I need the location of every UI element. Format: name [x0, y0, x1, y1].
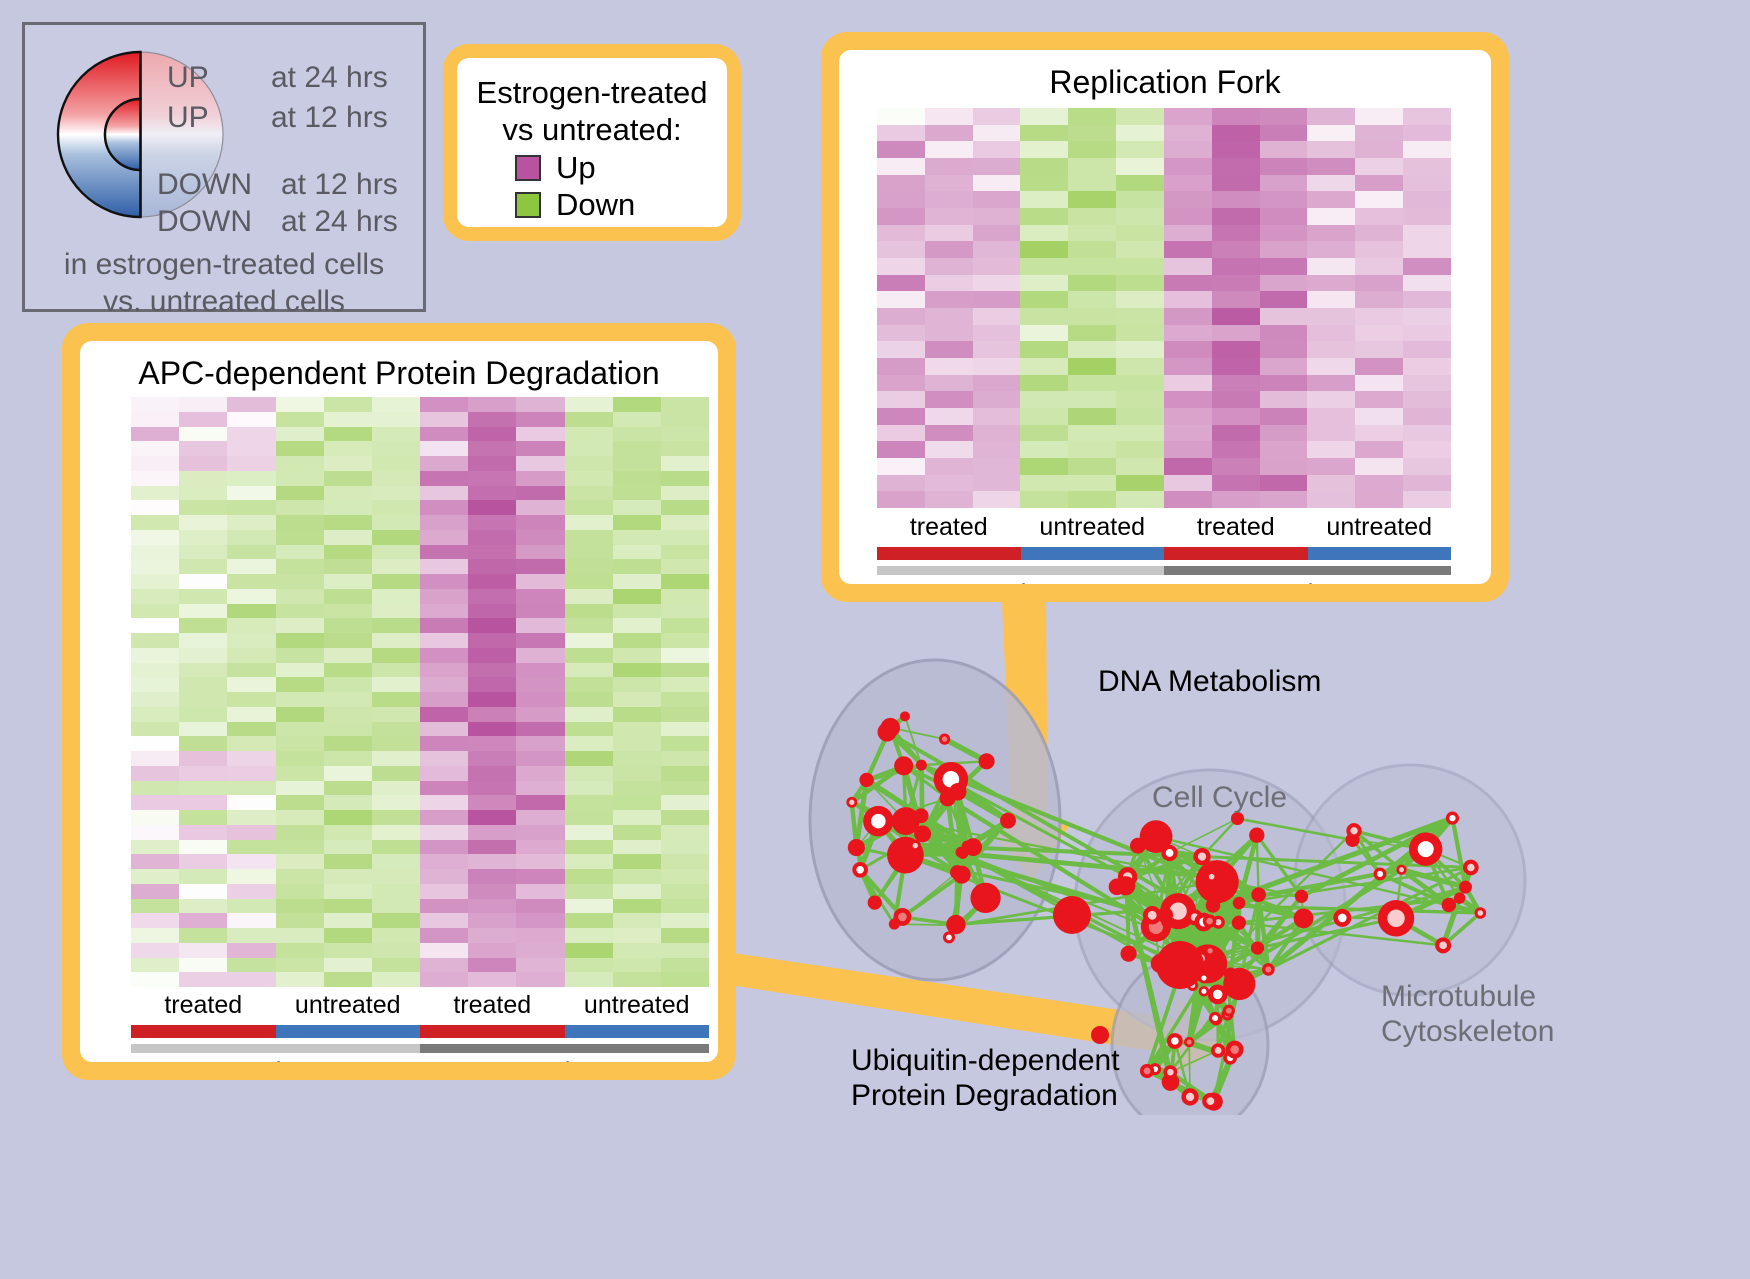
heatmap-cell [661, 456, 709, 471]
heatmap-cell [131, 515, 179, 530]
network-node[interactable] [1223, 1005, 1235, 1017]
network-node[interactable] [1163, 1065, 1177, 1079]
heatmap-cell [613, 884, 661, 899]
node-inner-circle [1201, 989, 1206, 994]
heatmap-cell [1355, 208, 1403, 225]
replication-fork-title: Replication Fork [839, 64, 1491, 101]
heatmap-cell [131, 663, 179, 678]
heatmap-cell [179, 589, 227, 604]
network-node[interactable] [846, 797, 857, 808]
heatmap-cell [1260, 441, 1308, 458]
heatmap-cell [1260, 341, 1308, 358]
network-node[interactable] [1209, 1012, 1221, 1024]
network-node[interactable] [859, 773, 873, 787]
heatmap-cell [565, 471, 613, 486]
heatmap-cell [925, 141, 973, 158]
network-node[interactable] [1196, 860, 1239, 903]
heatmap-cell [1355, 425, 1403, 442]
heatmap-cell [877, 108, 925, 125]
heatmap-cell [973, 225, 1021, 242]
heatmap-cell [1164, 441, 1212, 458]
heatmap-cell [925, 375, 973, 392]
network-node[interactable] [910, 840, 921, 851]
heatmap-cell [1164, 275, 1212, 292]
network-node[interactable] [1202, 1093, 1218, 1109]
network-node[interactable] [970, 883, 1000, 913]
heatmap-cell [516, 471, 564, 486]
heatmap-cell [1307, 358, 1355, 375]
heatmap-cell [372, 589, 420, 604]
heatmap-cell [877, 158, 925, 175]
heatmap-cell [613, 545, 661, 560]
heatmap-cell [1403, 358, 1451, 375]
network-node[interactable] [1193, 848, 1210, 865]
network-node[interactable] [1262, 963, 1275, 976]
heatmap-cell [1260, 275, 1308, 292]
heatmap-cell [420, 751, 468, 766]
node-outer-circle [946, 915, 965, 934]
heatmap-cell [516, 781, 564, 796]
heatmap-cell [179, 869, 227, 884]
network-node[interactable] [1346, 823, 1361, 838]
heatmap-cell [1212, 275, 1260, 292]
network-node[interactable] [914, 808, 929, 823]
network-node[interactable] [946, 915, 965, 934]
heatmap-cell [1260, 408, 1308, 425]
heatmap-cell [324, 574, 372, 589]
heatmap-cell [1403, 458, 1451, 475]
heatmap-cell [227, 722, 275, 737]
network-node[interactable] [1294, 908, 1314, 928]
heatmap-cell [179, 928, 227, 943]
network-node[interactable] [1120, 946, 1136, 962]
network-node[interactable] [955, 847, 966, 858]
heatmap-cell [420, 574, 468, 589]
color-key-panel: UP at 24 hrs UP at 12 hrs DOWN at 12 hrs… [22, 22, 426, 312]
heatmap-cell [420, 559, 468, 574]
network-node[interactable] [852, 862, 868, 878]
network-node[interactable] [1396, 865, 1406, 875]
condition-label: treated [1164, 513, 1308, 542]
heatmap-cell [1212, 191, 1260, 208]
heatmap-cell [131, 810, 179, 825]
heatmap-cell [613, 840, 661, 855]
apc-panel: APC-dependent Protein Degradation treate… [62, 323, 736, 1080]
heatmap-cell [565, 869, 613, 884]
key-label-up-24: UP [167, 61, 209, 95]
heatmap-cell [372, 854, 420, 869]
heatmap-cell [420, 795, 468, 810]
network-node[interactable] [1463, 860, 1479, 876]
heatmap-cell [1355, 241, 1403, 258]
heatmap-cell [516, 943, 564, 958]
network-node[interactable] [1208, 984, 1228, 1004]
heatmap-cell [1020, 341, 1068, 358]
heatmap-cell [179, 781, 227, 796]
heatmap-cell [131, 618, 179, 633]
heatmap-cell [613, 677, 661, 692]
network-node[interactable] [979, 753, 995, 769]
heatmap-cell [516, 722, 564, 737]
heatmap-cell [973, 241, 1021, 258]
heatmap-cell [1164, 475, 1212, 492]
heatmap-cell [1068, 158, 1116, 175]
heatmap-cell [516, 456, 564, 471]
heatmap-cell [1307, 191, 1355, 208]
heatmap-cell [227, 441, 275, 456]
network-node[interactable] [1378, 900, 1414, 936]
heatmap-cell [227, 869, 275, 884]
heatmap-cell [227, 854, 275, 869]
heatmap-cell [1212, 225, 1260, 242]
network-node[interactable] [894, 756, 913, 775]
network-node[interactable] [1206, 898, 1221, 913]
heatmap-cell [276, 795, 324, 810]
network-node[interactable] [1116, 876, 1135, 895]
heatmap-cell [516, 795, 564, 810]
heatmap-cell [179, 545, 227, 560]
heatmap-cell [1020, 408, 1068, 425]
network-node[interactable] [1233, 897, 1246, 910]
heatmap-cell [565, 486, 613, 501]
heatmap-cell [1403, 141, 1451, 158]
heatmap-cell [276, 884, 324, 899]
heatmap-cell [973, 458, 1021, 475]
network-node[interactable] [1184, 1037, 1194, 1047]
heatmap-cell [1164, 225, 1212, 242]
heatmap-cell [324, 884, 372, 899]
network-node[interactable] [1295, 890, 1308, 903]
heatmap-cell [227, 810, 275, 825]
network-node[interactable] [1446, 812, 1459, 825]
network-node[interactable] [868, 895, 882, 909]
network-node[interactable] [1226, 1041, 1244, 1059]
heatmap-cell [973, 175, 1021, 192]
heatmap-cell [324, 633, 372, 648]
node-inner-circle [1399, 867, 1404, 872]
heatmap-cell [516, 515, 564, 530]
heatmap-cell [973, 441, 1021, 458]
heatmap-cell [179, 825, 227, 840]
heatmap-cell [925, 391, 973, 408]
network-node[interactable] [1251, 941, 1264, 954]
heatmap-cell [420, 648, 468, 663]
node-inner-circle [1418, 841, 1434, 857]
heatmap-cell [516, 899, 564, 914]
time-label: 24 hrs [1164, 579, 1451, 584]
network-node[interactable] [1232, 916, 1246, 930]
heatmap-cell [276, 722, 324, 737]
heatmap-cell [324, 766, 372, 781]
network-node[interactable] [1249, 828, 1264, 843]
treated-bar [1164, 547, 1308, 560]
heatmap-cell [1212, 258, 1260, 275]
heatmap-cell [227, 663, 275, 678]
condition-label: treated [420, 991, 565, 1020]
network-node[interactable] [1475, 907, 1487, 919]
up-color-swatch [515, 155, 541, 181]
heatmap-cell [276, 943, 324, 958]
heatmap-cell [613, 441, 661, 456]
network-node[interactable] [881, 718, 901, 738]
heatmap-cell [179, 736, 227, 751]
untreated-bar [565, 1025, 710, 1038]
heatmap-cell [1307, 458, 1355, 475]
network-node[interactable] [1374, 868, 1387, 881]
heatmap-cell [1020, 458, 1068, 475]
heatmap-cell [1164, 158, 1212, 175]
network-node[interactable] [1442, 898, 1456, 912]
heatmap-cell [468, 972, 516, 987]
node-outer-circle [1442, 898, 1456, 912]
network-node[interactable] [1206, 871, 1218, 883]
heatmap-cell [276, 471, 324, 486]
heatmap-cell [1307, 208, 1355, 225]
heatmap-cell [468, 766, 516, 781]
heatmap-cell [1307, 441, 1355, 458]
heatmap-cell [468, 810, 516, 825]
heatmap-cell [613, 869, 661, 884]
heatmap-cell [1020, 475, 1068, 492]
network-node[interactable] [939, 790, 955, 806]
apc-panel-body: APC-dependent Protein Degradation treate… [80, 341, 718, 1062]
heatmap-cell [565, 456, 613, 471]
heatmap-cell [565, 781, 613, 796]
network-node[interactable] [848, 839, 865, 856]
heatmap-cell [179, 515, 227, 530]
network-node[interactable] [939, 734, 950, 745]
heatmap-cell [420, 427, 468, 442]
network-node[interactable] [953, 866, 971, 884]
replication-fork-body: Replication Fork treated untreated treat… [839, 50, 1491, 584]
heatmap-cell [131, 899, 179, 914]
network-node[interactable] [1167, 1033, 1183, 1049]
network-node[interactable] [1181, 1088, 1198, 1105]
heatmap-cell [613, 972, 661, 987]
node-outer-circle [894, 756, 913, 775]
heatmap-cell [565, 427, 613, 442]
node-outer-circle [1157, 907, 1173, 923]
heatmap-cell [468, 899, 516, 914]
heatmap-cell [1355, 158, 1403, 175]
heatmap-cell [1164, 108, 1212, 125]
heatmap-cell [179, 633, 227, 648]
node-outer-circle [1206, 898, 1221, 913]
network-node[interactable] [1053, 896, 1091, 934]
heatmap-cell [227, 899, 275, 914]
network-node[interactable] [1211, 1043, 1225, 1057]
node-inner-circle [1166, 849, 1174, 857]
node-inner-circle [942, 736, 947, 741]
node-outer-circle [1251, 887, 1266, 902]
heatmap-cell [324, 972, 372, 987]
network-node[interactable] [1454, 892, 1465, 903]
heatmap-cell [227, 958, 275, 973]
heatmap-cell [227, 633, 275, 648]
network-node[interactable] [1459, 881, 1472, 894]
node-inner-circle [1187, 1040, 1192, 1045]
heatmap-cell [1403, 375, 1451, 392]
heatmap-cell [516, 736, 564, 751]
heatmap-cell [877, 275, 925, 292]
heatmap-cell [468, 412, 516, 427]
heatmap-cell [131, 559, 179, 574]
heatmap-cell [1307, 391, 1355, 408]
heatmap-cell [420, 604, 468, 619]
heatmap-cell [276, 810, 324, 825]
heatmap-cell [516, 884, 564, 899]
network-node[interactable] [1333, 909, 1351, 927]
heatmap-cell [1020, 325, 1068, 342]
heatmap-cell [565, 412, 613, 427]
heatmap-cell [276, 486, 324, 501]
heatmap-cell [468, 559, 516, 574]
heatmap-cell [613, 958, 661, 973]
heatmap-cell [1260, 108, 1308, 125]
network-node[interactable] [889, 919, 900, 930]
node-inner-circle [946, 934, 952, 940]
network-node[interactable] [1156, 941, 1204, 989]
heatmap-cell [227, 618, 275, 633]
heatmap-cell [1068, 341, 1116, 358]
heatmap-cell [1212, 375, 1260, 392]
heatmap-cell [324, 559, 372, 574]
heatmap-cell [516, 751, 564, 766]
heatmap-cell [1260, 125, 1308, 142]
heatmap-cell [468, 456, 516, 471]
heatmap-cell [973, 158, 1021, 175]
replication-fork-time-labels: 12 hrs 24 hrs [877, 579, 1451, 584]
heatmap-cell [227, 972, 275, 987]
network-node[interactable] [1140, 1064, 1154, 1078]
heatmap-cell [468, 589, 516, 604]
heatmap-cell [227, 589, 275, 604]
heatmap-cell [877, 125, 925, 142]
heatmap-cell [131, 736, 179, 751]
network-node[interactable] [916, 760, 927, 771]
network-node[interactable] [1130, 838, 1146, 854]
heatmap-cell [877, 441, 925, 458]
heatmap-cell [1260, 458, 1308, 475]
network-node[interactable] [1091, 1026, 1109, 1044]
network-node[interactable] [1224, 968, 1238, 982]
heatmap-cell [372, 604, 420, 619]
heatmap-cell [131, 604, 179, 619]
heatmap-cell [613, 795, 661, 810]
heatmap-cell [179, 884, 227, 899]
heatmap-cell [227, 427, 275, 442]
heatmap-cell [565, 840, 613, 855]
heatmap-cell [1403, 391, 1451, 408]
heatmap-cell [1307, 325, 1355, 342]
heatmap-cell [324, 928, 372, 943]
network-node[interactable] [1409, 832, 1442, 865]
node-outer-circle [881, 718, 901, 738]
node-inner-circle [1206, 1097, 1214, 1105]
network-node[interactable] [1157, 907, 1173, 923]
heatmap-cell [131, 648, 179, 663]
network-node[interactable] [1199, 986, 1210, 997]
network-node[interactable] [1161, 845, 1177, 861]
node-inner-circle [849, 800, 854, 805]
heatmap-cell [131, 500, 179, 515]
heatmap-cell [227, 913, 275, 928]
heatmap-cell [1212, 391, 1260, 408]
heatmap-cell [973, 375, 1021, 392]
color-key-footer-line1: in estrogen-treated cells [25, 247, 423, 284]
network-node[interactable] [914, 825, 931, 842]
heatmap-cell [973, 408, 1021, 425]
heatmap-cell [131, 397, 179, 412]
heatmap-cell [324, 397, 372, 412]
heatmap-cell [661, 899, 709, 914]
heatmap-cell [227, 825, 275, 840]
network-node[interactable] [863, 806, 893, 836]
heatmap-cell [1020, 158, 1068, 175]
heatmap-cell [1116, 258, 1164, 275]
heatmap-cell [613, 707, 661, 722]
heatmap-cell [1164, 458, 1212, 475]
heatmap-cell [877, 191, 925, 208]
heatmap-cell [420, 810, 468, 825]
heatmap-cell [131, 471, 179, 486]
heatmap-cell [516, 618, 564, 633]
heatmap-cell [877, 325, 925, 342]
heatmap-cell [1212, 458, 1260, 475]
heatmap-cell [925, 225, 973, 242]
condition-label: untreated [1308, 513, 1452, 542]
heatmap-cell [324, 412, 372, 427]
heatmap-cell [516, 854, 564, 869]
heatmap-cell [613, 397, 661, 412]
color-key-footer: in estrogen-treated cells vs. untreated … [25, 247, 423, 320]
heatmap-cell [1307, 425, 1355, 442]
heatmap-cell [1403, 441, 1451, 458]
heatmap-cell [661, 648, 709, 663]
network-node[interactable] [900, 711, 910, 721]
heatmap-cell [468, 692, 516, 707]
heatmap-cell [1307, 291, 1355, 308]
key-time-up-24: at 24 hrs [271, 61, 388, 95]
node-outer-circle [900, 711, 910, 721]
network-node[interactable] [1000, 813, 1016, 829]
node-outer-circle [914, 825, 931, 842]
heatmap-cell [565, 854, 613, 869]
heatmap-cell [1116, 275, 1164, 292]
heatmap-cell [227, 515, 275, 530]
heatmap-cell [1068, 141, 1116, 158]
heatmap-cell [516, 441, 564, 456]
heatmap-cell [516, 928, 564, 943]
heatmap-cell [372, 840, 420, 855]
network-node[interactable] [1251, 887, 1266, 902]
heatmap-cell [468, 500, 516, 515]
heatmap-cell [179, 427, 227, 442]
heatmap-cell [420, 589, 468, 604]
heatmap-cell [1403, 491, 1451, 508]
network-node[interactable] [1435, 937, 1451, 953]
heatmap-cell [1068, 408, 1116, 425]
heatmap-cell [1355, 125, 1403, 142]
node-outer-circle [1120, 946, 1136, 962]
heatmap-cell [1212, 425, 1260, 442]
heatmap-cell [131, 766, 179, 781]
heatmap-cell [1020, 275, 1068, 292]
heatmap-cell [179, 692, 227, 707]
heatmap-cell [877, 341, 925, 358]
network-node[interactable] [1203, 914, 1217, 928]
heatmap-cell [1068, 191, 1116, 208]
